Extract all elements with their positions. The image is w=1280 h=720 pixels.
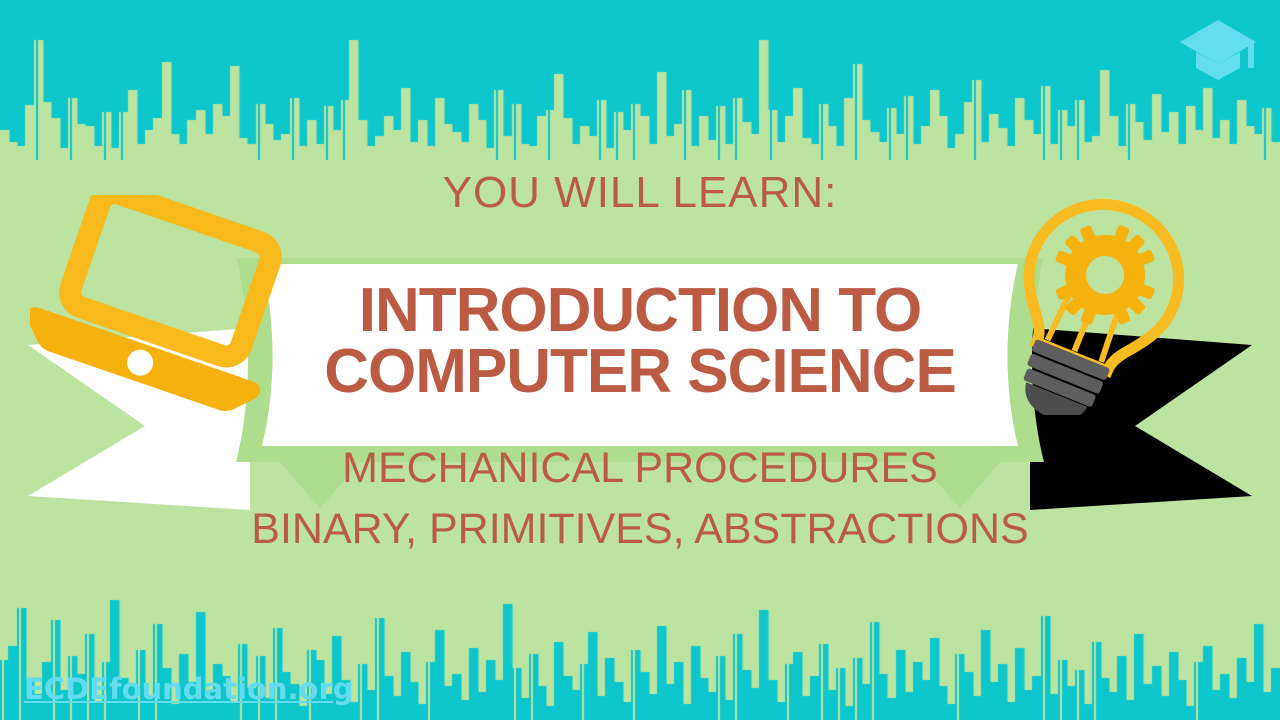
slide-canvas: YOU WILL LEARN: INTRODUCTION TO COMPUTER… [0, 0, 1280, 720]
waveform-top-canvas [0, 0, 1280, 160]
lightbulb-gear-icon [1000, 195, 1190, 415]
laptop-icon [30, 195, 290, 425]
graduation-cap-logo [1178, 14, 1258, 86]
waveform-top [0, 0, 1280, 160]
footer-website-link[interactable]: ECDEfoundation.org [24, 672, 354, 706]
subtitle-line-1: MECHANICAL PROCEDURES [0, 444, 1280, 493]
subtitle-line-2: BINARY, PRIMITIVES, ABSTRACTIONS [0, 505, 1280, 554]
